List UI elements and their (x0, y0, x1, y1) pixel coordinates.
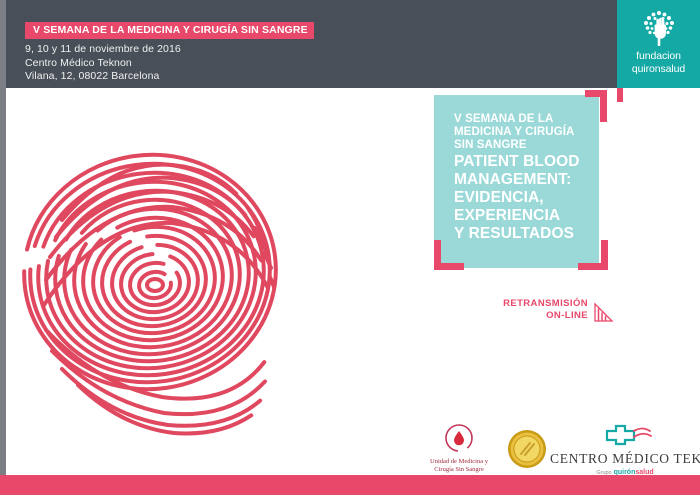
foundation-name-line2: quironsalud (617, 63, 700, 76)
foundation-name-line1: fundacion (617, 50, 700, 63)
event-address: Vilana, 12, 08022 Barcelona (25, 70, 181, 84)
retransmission-block: RETRANSMISIÓN ON-LINE (496, 298, 616, 322)
teknon-cross-icon (550, 422, 700, 446)
retransmission-line-2: ON-LINE (496, 310, 588, 322)
logo-unidad-caption: Unidad de Medicina y Cirugía Sin Sangre (420, 458, 498, 473)
accent-mark (617, 88, 623, 102)
retransmission-label: RETRANSMISIÓN ON-LINE (496, 298, 588, 322)
logo-unidad-line-2: Cirugía Sin Sangre (420, 466, 498, 474)
retransmission-line-1: RETRANSMISIÓN (496, 298, 588, 310)
left-edge-strip (0, 0, 6, 495)
gold-medal-icon (506, 428, 548, 470)
logo-unidad-medicina: Unidad de Medicina y Cirugía Sin Sangre (420, 424, 498, 473)
event-title-banner: V SEMANA DE LA MEDICINA Y CIRUGÍA SIN SA… (25, 22, 314, 39)
event-title-text: V SEMANA DE LA MEDICINA Y CIRUGÍA SIN SA… (25, 22, 314, 39)
corner-bracket-bottom-left (434, 240, 464, 270)
event-details: 9, 10 y 11 de noviembre de 2016 Centro M… (25, 43, 181, 84)
panel-kicker-text: V SEMANA DE LA MEDICINA Y CIRUGÍA SIN SA… (454, 113, 594, 152)
panel-title-line-2: MANAGEMENT: (454, 171, 602, 189)
corner-bracket-top-right (585, 90, 607, 122)
logo-centro-medico-teknon: CENTRO MÉDICO TEKNON Grupo quirónsalud (550, 422, 700, 478)
tree-hand-icon (639, 7, 679, 47)
blood-drop-circle-icon (420, 424, 498, 452)
sponsor-logo-row: Unidad de Medicina y Cirugía Sin Sangre … (410, 420, 700, 475)
panel-main-title: PATIENT BLOOD MANAGEMENT: EVIDENCIA, EXP… (454, 153, 602, 243)
broadcast-signal-icon (592, 298, 616, 324)
panel-title-line-1: PATIENT BLOOD (454, 153, 602, 171)
bottom-accent-bar (0, 475, 700, 495)
poster-canvas: V SEMANA DE LA MEDICINA Y CIRUGÍA SIN SA… (0, 0, 700, 495)
fingerprint-illustration (22, 125, 292, 440)
event-venue: Centro Médico Teknon (25, 57, 181, 71)
foundation-logo-text: fundacion quironsalud (617, 50, 700, 75)
foundation-logo-block: fundacion quironsalud (617, 0, 700, 88)
panel-title-line-3: EVIDENCIA, (454, 189, 602, 207)
corner-bracket-bottom-right (578, 240, 608, 270)
logo-unidad-line-1: Unidad de Medicina y (420, 458, 498, 466)
panel-title-line-4: EXPERIENCIA (454, 207, 602, 225)
logo-teknon-name: CENTRO MÉDICO TEKNON (550, 451, 700, 466)
event-dates: 9, 10 y 11 de noviembre de 2016 (25, 43, 181, 57)
